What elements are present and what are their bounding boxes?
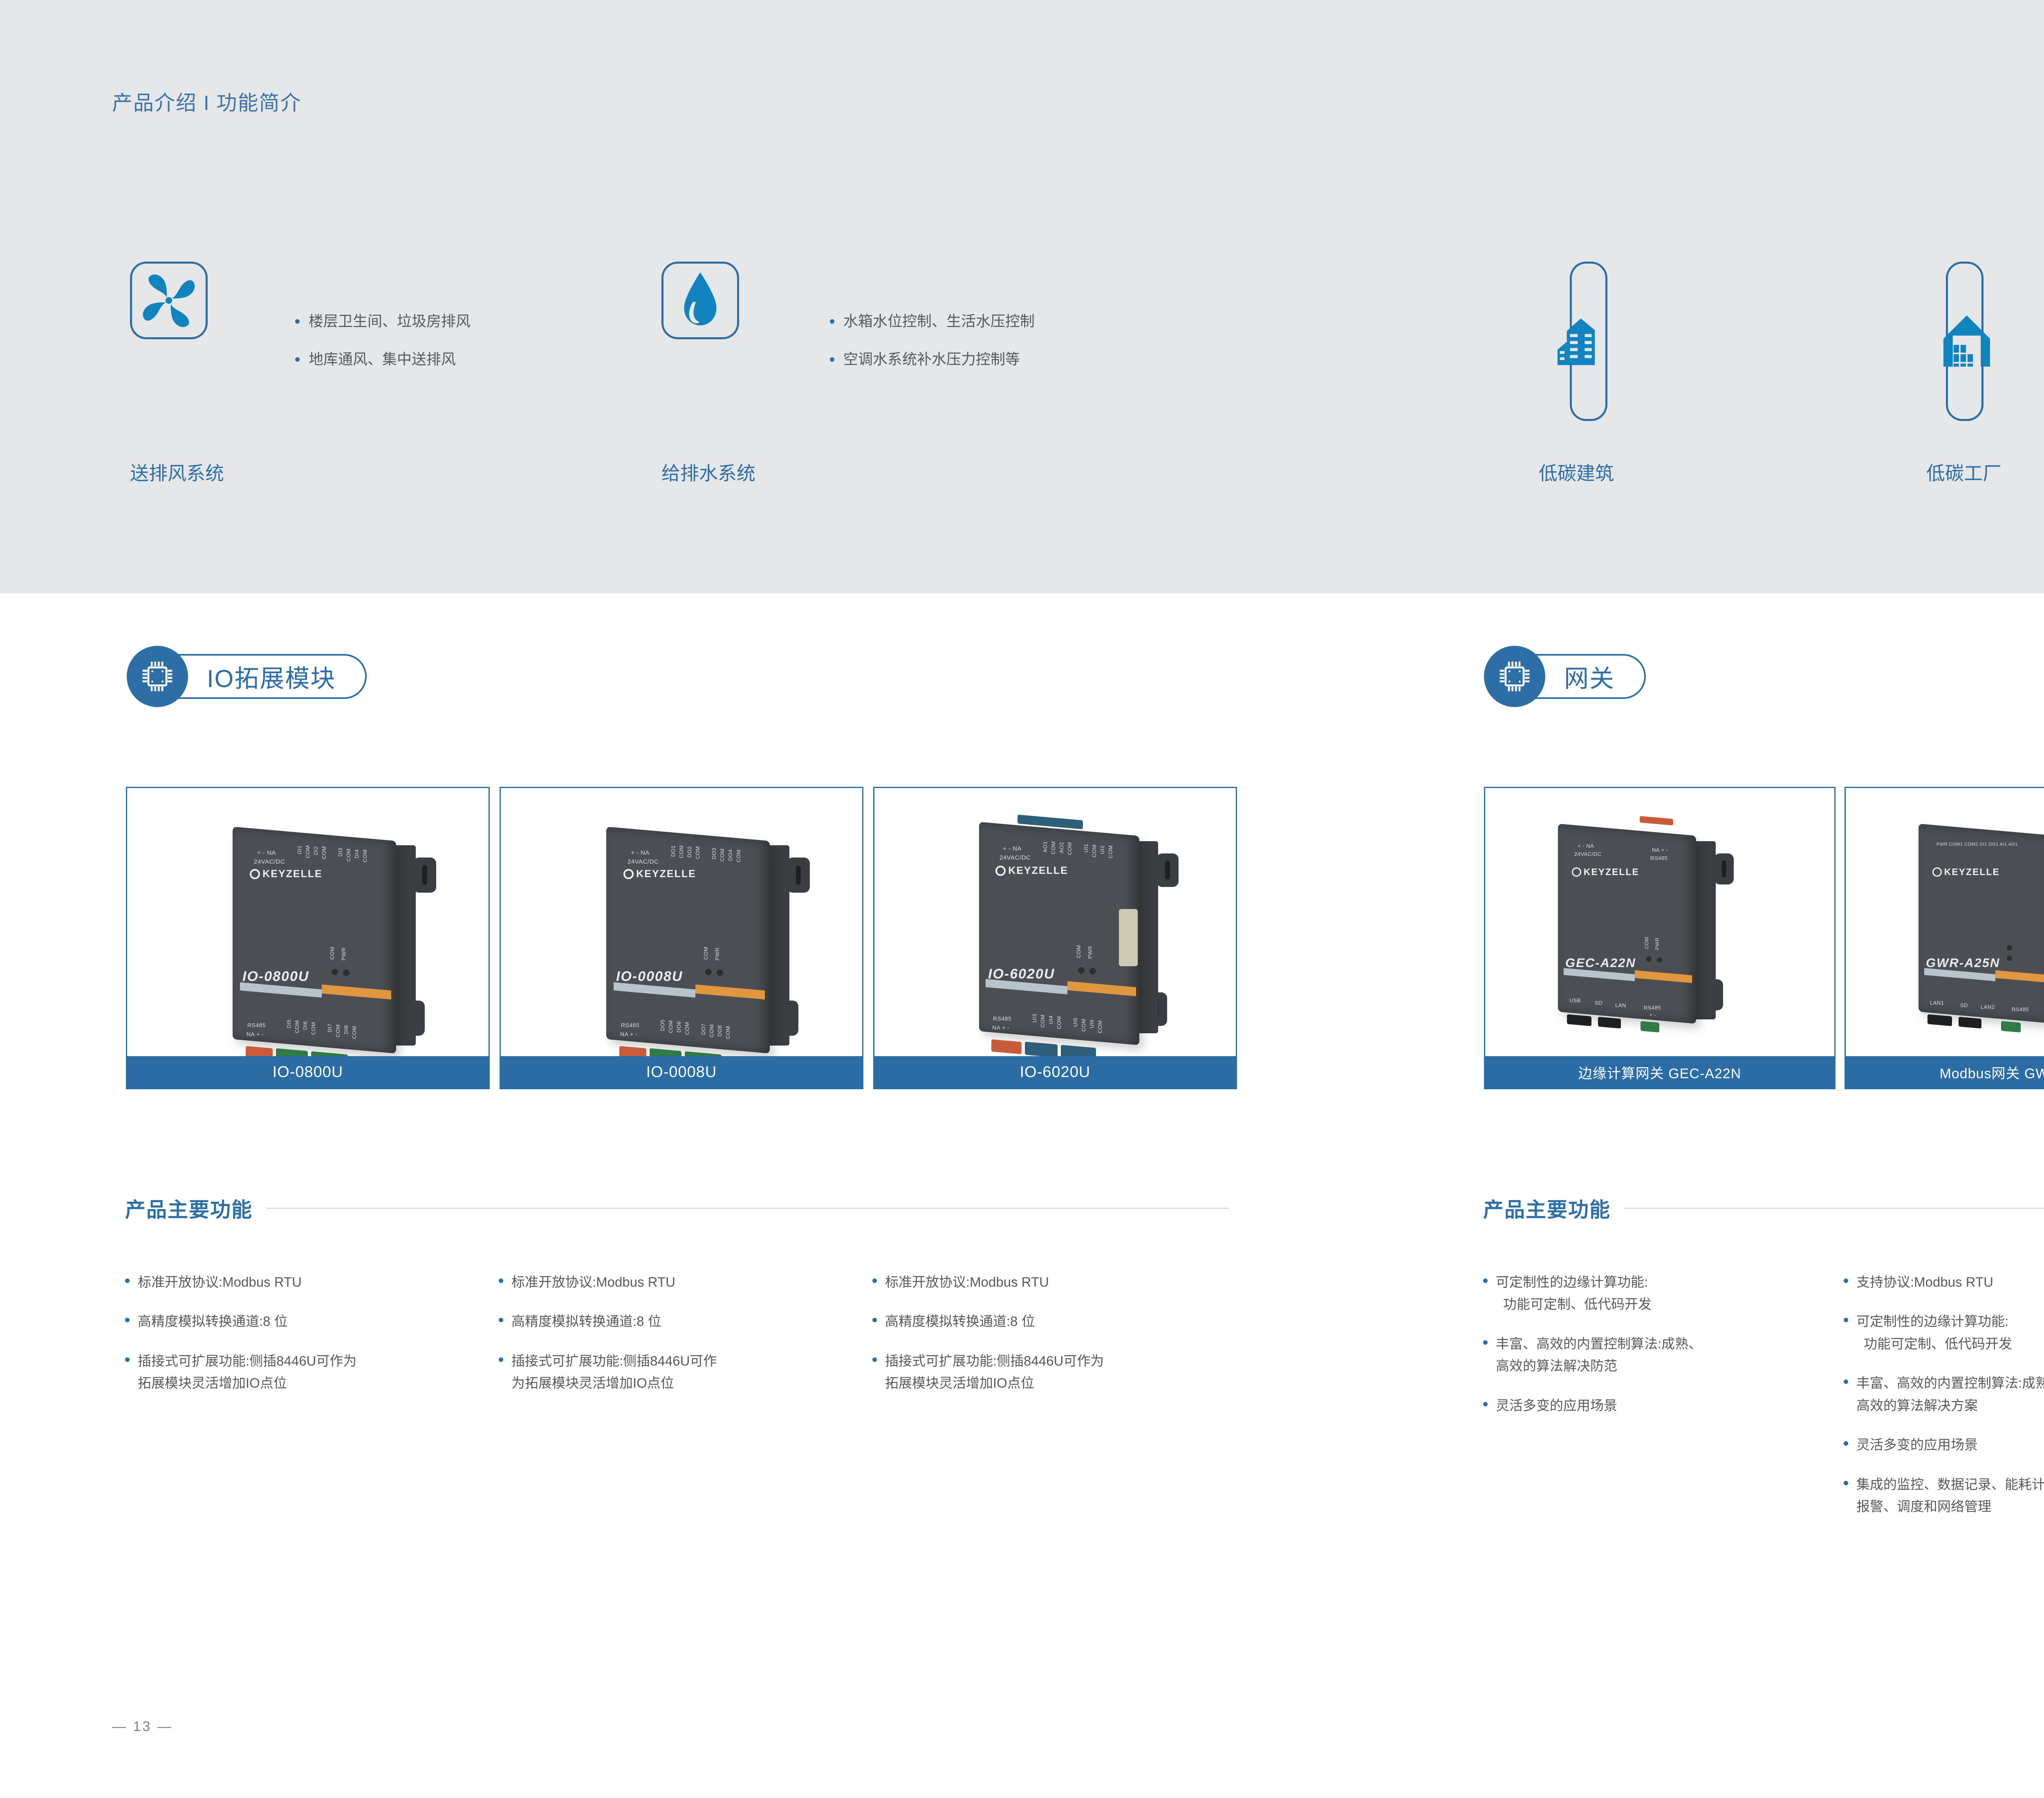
feature-item: 插接式可扩展功能:侧插8446U可作为拓展模块灵活增加IO点位 [499, 1350, 863, 1395]
chip-icon-circle [127, 646, 188, 707]
feature-item: 插接式可扩展功能:侧插8446U可作为拓展模块灵活增加IO点位 [872, 1350, 1236, 1395]
feature-item: 高精度模拟转换通道:8 位 [499, 1310, 863, 1332]
gateway-features-title: 产品主要功能 [1483, 1193, 2044, 1223]
bullet-dot [295, 319, 300, 324]
page-number-left: — 13 — [112, 1719, 173, 1735]
product-card[interactable]: PWR COM1 COM2 DI1 DO1 AI1 AO1 KEYZELLE G… [1845, 787, 2044, 1089]
product-caption: 边缘计算网关 GEC-A22N [1485, 1056, 1834, 1088]
divider [1625, 1208, 2044, 1209]
chip-icon [1495, 657, 1534, 696]
office-building-icon [1550, 305, 1627, 382]
bullet-dot [1844, 1441, 1848, 1446]
page-header-left: 产品介绍 I 功能简介 [112, 87, 302, 116]
feature-item: 高精度模拟转换通道:8 位 [872, 1310, 1236, 1332]
bullet-dot [1844, 1481, 1848, 1485]
feature-column: 标准开放协议:Modbus RTU 高精度模拟转换通道:8 位 插接式可扩展功能… [499, 1271, 863, 1412]
feature-column: 标准开放协议:Modbus RTU 高精度模拟转换通道:8 位 插接式可扩展功能… [125, 1271, 489, 1412]
office-building-tile [1570, 262, 1607, 421]
bullet-dot [872, 1318, 877, 1322]
bullet-dot [499, 1357, 503, 1362]
bullet-dot [830, 357, 834, 362]
product-image: PWR COM1 COM2 DI1 DO1 AI1 AO1 KEYZELLE G… [1846, 788, 2044, 1056]
feature-item: 可定制性的边缘计算功能:功能可定制、低代码开发 [1844, 1310, 2044, 1355]
list-item: 楼层卫生间、垃圾房排风 [295, 311, 471, 331]
fan-icon [132, 264, 206, 337]
product-card[interactable]: + - NA 24VAC/DC NA + - RS485 KEYZELLE GE… [1484, 787, 1836, 1089]
bullet-dot [499, 1279, 503, 1283]
product-card[interactable]: + - NA 24VAC/DC DO1 COM DO2 COM DO3 COM … [500, 787, 863, 1089]
product-caption: IO-6020U [874, 1056, 1236, 1088]
list-item: 水箱水位控制、生活水压控制 [830, 311, 1035, 331]
bullet-dot [1483, 1402, 1488, 1406]
feature-item: 支持协议:Modbus RTU [1844, 1271, 2044, 1293]
bullet-dot [1844, 1279, 1848, 1283]
bullet-dot [295, 357, 300, 362]
feature-item: 灵活多变的应用场景 [1844, 1434, 2044, 1456]
chip-icon [138, 657, 177, 696]
feature-column: 可定制性的边缘计算功能:功能可定制、低代码开发 丰富、高效的内置控制算法:成熟、… [1483, 1271, 1835, 1535]
product-caption: Modbus网关 GWR-A25N [1846, 1056, 2044, 1088]
chip-icon-circle [1484, 646, 1545, 707]
io-feature-columns: 标准开放协议:Modbus RTU 高精度模拟转换通道:8 位 插接式可扩展功能… [125, 1271, 1236, 1412]
feature-item: 插接式可扩展功能:侧插8446U可作为拓展模块灵活增加IO点位 [125, 1350, 489, 1395]
divider [267, 1208, 1229, 1209]
product-card[interactable]: + - NA 24VAC/DC DI1 COM DI2 COM DI3 COM … [126, 787, 490, 1089]
section-badge-io: IO拓展模块 [127, 646, 367, 707]
factory-icon [1928, 305, 2006, 382]
factory-tile-label: 低碳工厂 [1926, 459, 2001, 486]
bullet-dot [125, 1318, 130, 1322]
brochure-spread: 产品介绍 I 功能简介 产品介绍 I 功能简介 送排风系统 楼层卫生间、垃圾房排… [0, 0, 2044, 1798]
gateway-product-cards: + - NA 24VAC/DC NA + - RS485 KEYZELLE GE… [1484, 787, 2044, 1089]
fan-tile-label: 送排风系统 [130, 459, 224, 486]
product-image: + - NA 24VAC/DC DI1 COM DI2 COM DI3 COM … [127, 788, 489, 1056]
bullet-dot [872, 1357, 877, 1362]
office-building-tile-label: 低碳建筑 [1539, 459, 1614, 486]
water-tile [661, 262, 739, 339]
fan-bullet-list: 楼层卫生间、垃圾房排风 地库通风、集中送排风 [295, 311, 471, 387]
list-item: 地库通风、集中送排风 [295, 349, 471, 369]
feature-item: 高精度模拟转换通道:8 位 [125, 1310, 489, 1332]
bullet-dot [1483, 1340, 1488, 1345]
bullet-dot [499, 1318, 503, 1322]
factory-tile [1946, 262, 1983, 421]
feature-item: 标准开放协议:Modbus RTU [125, 1271, 489, 1293]
feature-column: 支持协议:Modbus RTU 可定制性的边缘计算功能:功能可定制、低代码开发 … [1844, 1271, 2044, 1535]
application-banner [0, 0, 2044, 593]
feature-item: 丰富、高效的内置控制算法:成熟、高效的算法解决防范 [1483, 1333, 1835, 1377]
feature-item: 集成的监控、数据记录、能耗计量、报警、调度和网络管理 [1844, 1473, 2044, 1518]
io-features-title: 产品主要功能 [125, 1193, 1229, 1223]
product-image: + - NA 24VAC/DC AO1 COM AO2 COM UI1 COM … [874, 788, 1236, 1056]
bullet-dot [125, 1357, 130, 1362]
fan-tile [130, 262, 208, 339]
io-product-cards: + - NA 24VAC/DC DI1 COM DI2 COM DI3 COM … [126, 787, 1237, 1089]
bullet-dot [125, 1279, 130, 1283]
feature-item: 丰富、高效的内置控制算法:成熟、高效的算法解决方案 [1844, 1372, 2044, 1417]
product-caption: IO-0800U [127, 1056, 489, 1088]
product-caption: IO-0008U [501, 1056, 862, 1088]
bullet-dot [1844, 1318, 1848, 1322]
gateway-feature-columns: 可定制性的边缘计算功能:功能可定制、低代码开发 丰富、高效的内置控制算法:成熟、… [1483, 1271, 2044, 1535]
water-bullet-list: 水箱水位控制、生活水压控制 空调水系统补水压力控制等 [830, 311, 1035, 387]
product-card[interactable]: + - NA 24VAC/DC AO1 COM AO2 COM UI1 COM … [873, 787, 1237, 1089]
water-drop-icon [663, 264, 737, 337]
list-item: 空调水系统补水压力控制等 [830, 349, 1035, 369]
bullet-dot [1844, 1379, 1848, 1384]
feature-item: 灵活多变的应用场景 [1483, 1395, 1835, 1417]
feature-column: 标准开放协议:Modbus RTU 高精度模拟转换通道:8 位 插接式可扩展功能… [872, 1271, 1236, 1412]
bullet-dot [872, 1279, 877, 1283]
product-image: + - NA 24VAC/DC NA + - RS485 KEYZELLE GE… [1485, 788, 1834, 1056]
product-image: + - NA 24VAC/DC DO1 COM DO2 COM DO3 COM … [501, 788, 862, 1056]
water-tile-label: 给排水系统 [661, 459, 755, 486]
bullet-dot [830, 319, 834, 324]
feature-item: 标准开放协议:Modbus RTU [499, 1271, 863, 1293]
bullet-dot [1483, 1279, 1488, 1283]
feature-item: 标准开放协议:Modbus RTU [872, 1271, 1236, 1293]
section-badge-gateway: 网关 [1484, 646, 1646, 707]
feature-item: 可定制性的边缘计算功能:功能可定制、低代码开发 [1483, 1271, 1835, 1316]
